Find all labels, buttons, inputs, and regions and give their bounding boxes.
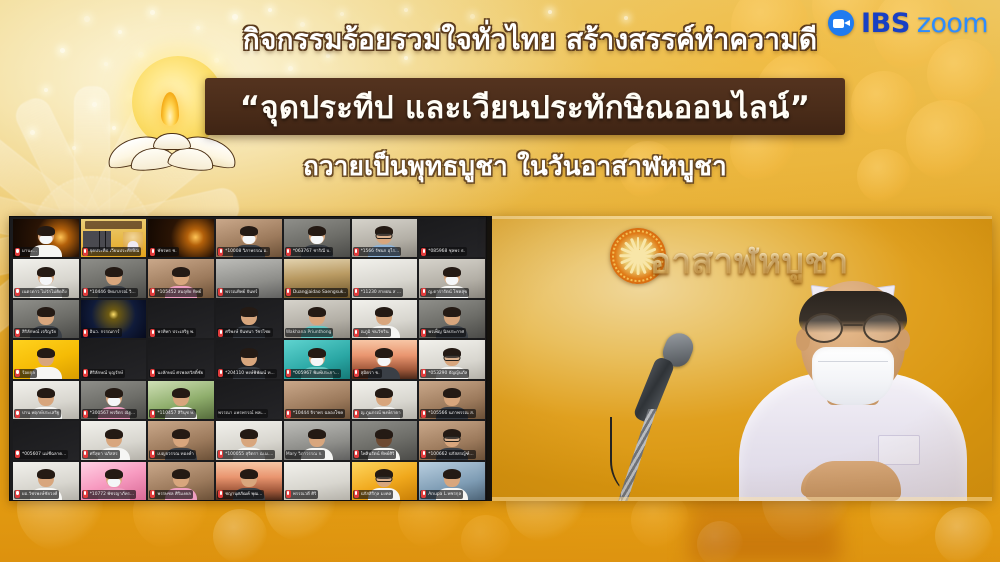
brand-zoom-label: zoom — [917, 8, 988, 39]
participant-tile[interactable]: พรรณทิพย์ จันทร์ — [216, 259, 282, 297]
participant-name-bar: พรทิพา ประเสริฐ พ. — [149, 328, 196, 337]
participant-name: ศรีสุดา ปภัสสร — [90, 450, 118, 459]
participant-name: *005967 พิมพ์ประภา... — [293, 369, 339, 378]
participant-name-bar: นงลักษณ์ ศรพลสวัสดิ์ชัย — [149, 369, 205, 378]
muted-microphone-icon — [421, 450, 426, 458]
participant-name-bar: ผอ.วัชรพงษ์ชัยวงศ์ — [14, 490, 59, 499]
participant-name-bar: *053290 ธัญญ์นภัส — [420, 369, 469, 378]
muted-microphone-icon — [286, 369, 291, 377]
muted-microphone-icon — [286, 288, 291, 296]
muted-microphone-icon — [218, 248, 223, 256]
participant-name: พรรณา แพรพรรณ์ พลเ... — [218, 409, 266, 418]
participant-name-bar: Anupa L.พชรกุล — [420, 490, 463, 499]
muted-microphone-icon — [15, 450, 20, 458]
muted-microphone-icon — [83, 288, 88, 296]
participant-name-bar: *10446 ปัทมาภรณ์ วิ... — [82, 288, 138, 297]
participant-name-bar: ศรีพงษ์ จันทนา วัชรไชย — [217, 328, 272, 337]
participant-name-bar: จุดประทีป เวียนประทักษิณ — [82, 247, 142, 256]
participant-name-bar: ณภูมิ ชนวัชริน — [353, 328, 391, 337]
participant-name: *005607 แม่ชีฉลาด... — [22, 450, 66, 459]
participant-name: *053290 ธัญญ์นภัส — [428, 369, 467, 378]
muted-microphone-icon — [218, 369, 223, 377]
participant-name: ร้อยกุล — [22, 369, 35, 378]
muted-microphone-icon — [354, 288, 359, 296]
ibs-zoom-logo: IBS zoom — [828, 6, 988, 40]
brand-ibs-label: IBS — [861, 8, 910, 39]
participant-tile[interactable]: สิริลักษณ์ เจริญวัย — [13, 300, 79, 338]
muted-microphone-icon — [286, 410, 291, 418]
participant-name: จุดประทีป เวียนประทักษิณ — [90, 247, 140, 256]
participant-tile[interactable]: ศรีสุดา ปภัสสร — [81, 421, 147, 459]
broadcast-stage: กิจกรรมร้อยรวมใจทั่วไทย สร้างสรรค์ทำความ… — [0, 0, 1000, 562]
participant-name-bar: *063767 ชาริณี บ. — [285, 247, 333, 256]
participant-tile[interactable]: *085968 ชุลพร ธ. — [419, 219, 485, 257]
participant-name: *300567 พรจิตร ณัฐ... — [90, 409, 135, 418]
participant-name: ชญานุศภัฒค์ พุฒ... — [225, 490, 262, 499]
muted-microphone-icon — [83, 490, 88, 498]
muted-microphone-icon — [83, 369, 88, 377]
participant-name-bar: ร้อยกุล — [14, 369, 37, 378]
participant-tile[interactable]: *100662 ปภัสสรญ์ฑ์... — [419, 421, 485, 459]
participant-tile[interactable]: *105452 สมฤทัย ทิพย์ — [148, 259, 214, 297]
participant-tile[interactable]: พรรณวดี ศิริ — [284, 462, 350, 500]
participant-tile[interactable]: จุดประทีป เวียนประทักษิณ — [81, 219, 147, 257]
participant-tile[interactable]: *10772 พัชรญาภัทร... — [81, 462, 147, 500]
participant-name-bar: ชญานุศภัฒค์ พุฒ... — [217, 490, 264, 499]
participant-name-bar: เนตรดาว ไม่รักไม่คิดถึง — [14, 288, 69, 297]
participant-tile[interactable]: ปภัสสิริกุล มงคล — [352, 462, 418, 500]
participant-tile[interactable]: *10008 วิภาพรรณ อ. — [216, 219, 282, 257]
participant-tile[interactable]: ญ.ภูมภรณ์ พงษ์ธาดา — [352, 381, 418, 419]
participant-name-bar: *1566 รัชนก อุไร... — [353, 247, 402, 256]
participant-tile[interactable]: *10444 จิราพร ฉลองโชค — [284, 381, 350, 419]
muted-microphone-icon — [354, 329, 359, 337]
muted-microphone-icon — [354, 369, 359, 377]
event-title-banner: “จุดประทีป และเวียนประทักษิณออนไลน์” — [205, 78, 845, 135]
muted-microphone-icon — [354, 490, 359, 498]
participant-name-bar: *100662 ปภัสสรญ์ฑ์... — [420, 450, 475, 459]
participant-name-bar: มานะ... — [14, 247, 39, 256]
participant-name: ญ.ภูมภรณ์ พงษ์ธาดา — [361, 409, 401, 418]
participant-tile[interactable]: ณภูมิ ชนวัชริน — [352, 300, 418, 338]
participant-name: Wakhana Priunthong — [286, 328, 332, 337]
muted-microphone-icon — [83, 248, 88, 256]
participant-name: ไพลินรัตน์ ทิพย์ศิริ — [361, 450, 395, 459]
participant-tile[interactable]: *11230 สายฝน ส ... — [352, 259, 418, 297]
participant-tile[interactable]: เบญจวรรณ ทองคำ — [148, 421, 214, 459]
participant-tile[interactable]: Mary วิภาวรรณ จ. — [284, 421, 350, 459]
participant-tile[interactable]: *005607 แม่ชีฉลาด... — [13, 421, 79, 459]
participant-name: ณภูมิ ชนวัชริน — [361, 328, 389, 337]
participant-name-bar: พรเพ็ญ นิลประกาศ — [420, 328, 466, 337]
participant-name: *105566 นภาพรรณ ส. — [428, 409, 474, 418]
participant-name-bar: *105452 สมฤทัย ทิพย์ — [149, 288, 203, 297]
muted-microphone-icon — [354, 248, 359, 256]
event-title-line-3: ถวายเป็นพุทธบูชา ในวันอาสาฬหบูชา — [0, 146, 1000, 187]
muted-microphone-icon — [421, 329, 426, 337]
participant-name-bar: พรรณวดี ศิริ — [285, 490, 319, 499]
participant-name-bar: ญ.ภูมภรณ์ พงษ์ธาดา — [353, 409, 403, 418]
participant-tile[interactable]: ร้อยกุล — [13, 340, 79, 378]
participant-tile[interactable]: พัชรพร ช. — [148, 219, 214, 257]
zoom-gallery-panel[interactable]: มานะ...จุดประทีป เวียนประทักษิณพัชรพร ช.… — [9, 216, 487, 501]
participant-tile[interactable]: *300567 พรจิตร ณัฐ... — [81, 381, 147, 419]
participant-name: *10008 วิภาพรรณ อ. — [225, 247, 268, 256]
participant-tile[interactable]: *100055 สุจิตรา ฌ.ม.... — [216, 421, 282, 459]
participant-name-bar: *005967 พิมพ์ประภา... — [285, 369, 341, 378]
participant-name-bar: พัชรพร ช. — [149, 247, 178, 256]
participant-name: Mary วิภาวรรณ จ. — [286, 450, 323, 459]
participant-name-bar: *300567 พรจิตร ณัฐ... — [82, 409, 137, 418]
participant-name-bar: *204110 พงษ์พิพัฒน์ ท... — [217, 369, 277, 378]
participant-name-bar: *085968 ชุลพร ธ. — [420, 247, 467, 256]
muted-microphone-icon — [354, 450, 359, 458]
participant-name: *105452 สมฤทัย ทิพย์ — [157, 288, 201, 297]
muted-microphone-icon — [15, 410, 20, 418]
participant-name-bar: ปภัสสิริกุล มงคล — [353, 490, 394, 499]
participant-tile[interactable]: เนตรดาว ไม่รักไม่คิดถึง — [13, 259, 79, 297]
participant-name-bar: ศิริลักษณ์ บุญรักษ์ — [82, 369, 125, 378]
participant-name: *100055 สุจิตรา ฌ.ม.... — [225, 450, 273, 459]
participant-name-bar: *10444 จิราพร ฉลองโชค — [285, 409, 345, 418]
participant-tile[interactable]: *105566 นภาพรรณ ส. — [419, 381, 485, 419]
participant-name: นงลักษณ์ ศรพลสวัสดิ์ชัย — [157, 369, 203, 378]
participant-name: พัชรพร ช. — [157, 247, 176, 256]
participant-name: ปาน พฤกษ์ประเสริฐ — [22, 409, 59, 418]
participant-name: *10446 ปัทมาภรณ์ วิ... — [90, 288, 136, 297]
participant-name: Anupa L.พชรกุล — [428, 490, 461, 499]
participant-tile[interactable]: สุมิตรา ข. — [352, 340, 418, 378]
participant-name-bar: เบญจวรรณ ทองคำ — [149, 450, 195, 459]
video-camera-icon — [828, 10, 854, 36]
participant-name: *11230 สายฝน ส ... — [361, 288, 402, 297]
participant-tile[interactable]: Anupa L.พชรกุล — [419, 462, 485, 500]
muted-microphone-icon — [218, 288, 223, 296]
participant-tile[interactable]: *1566 รัชนก อุไร... — [352, 219, 418, 257]
participant-tile[interactable]: พรรณา แพรพรรณ์ พลเ... — [216, 381, 282, 419]
participant-tile[interactable]: ชญานุศภัฒค์ พุฒ... — [216, 462, 282, 500]
participant-name-bar: *100055 สุจิตรา ฌ.ม.... — [217, 450, 275, 459]
participant-name-bar: อินว. กรรณการ์ — [82, 328, 122, 337]
participant-name: ผอ.วัชรพงษ์ชัยวงศ์ — [22, 490, 57, 499]
muted-microphone-icon — [150, 248, 155, 256]
participant-name: ญ.ดารารัตน์ โชคสุข — [428, 288, 467, 297]
participant-name: *063767 ชาริณี บ. — [293, 247, 331, 256]
participant-name: พรเพ็ญ นิลประกาศ — [428, 328, 464, 337]
participant-name: *10772 พัชรญาภัทร... — [90, 490, 134, 499]
participant-tile[interactable]: *063767 ชาริณี บ. — [284, 219, 350, 257]
participant-name-bar: *11230 สายฝน ส ... — [353, 288, 404, 297]
participant-name-bar: พรรษชล ศิริมงคล — [149, 490, 192, 499]
participant-tile[interactable]: ญ.ดารารัตน์ โชคสุข — [419, 259, 485, 297]
participant-tile[interactable]: ไพลินรัตน์ ทิพย์ศิริ — [352, 421, 418, 459]
participant-name: Duangjaidao Saengsuk... — [293, 288, 346, 297]
muted-microphone-icon — [15, 288, 20, 296]
muted-microphone-icon — [15, 369, 20, 377]
muted-microphone-icon — [150, 490, 155, 498]
participant-name: เนตรดาว ไม่รักไม่คิดถึง — [22, 288, 67, 297]
participant-name: ศิริลักษณ์ บุญรักษ์ — [90, 369, 123, 378]
participant-name-bar: *005607 แม่ชีฉลาด... — [14, 450, 68, 459]
participant-name-bar: ศรีสุดา ปภัสสร — [82, 450, 120, 459]
participant-name-bar: *110457 สิรินุช ษ. — [149, 409, 196, 418]
participant-name: สุมิตรา ข. — [361, 369, 380, 378]
participant-tile[interactable]: ศรีพงษ์ จันทนา วัชรไชย — [216, 300, 282, 338]
participant-name: สิริลักษณ์ เจริญวัย — [22, 328, 56, 337]
participant-tile[interactable]: *10446 ปัทมาภรณ์ วิ... — [81, 259, 147, 297]
participant-name: *110457 สิรินุช ษ. — [157, 409, 194, 418]
participant-name-bar: Mary วิภาวรรณ จ. — [285, 450, 325, 459]
event-title-line-2: “จุดประทีป และเวียนประทักษิณออนไลน์” — [240, 82, 811, 132]
muted-microphone-icon — [83, 450, 88, 458]
muted-microphone-icon — [150, 450, 155, 458]
muted-microphone-icon — [83, 329, 88, 337]
participant-tile[interactable]: *204110 พงษ์พิพัฒน์ ท... — [216, 340, 282, 378]
muted-microphone-icon — [218, 450, 223, 458]
participant-name: ศรีพงษ์ จันทนา วัชรไชย — [225, 328, 270, 337]
participant-tile[interactable]: *110457 สิรินุช ษ. — [148, 381, 214, 419]
participant-tile[interactable]: Duangjaidao Saengsuk... — [284, 259, 350, 297]
participant-name-bar: Duangjaidao Saengsuk... — [285, 288, 348, 297]
participant-name-bar: สิริลักษณ์ เจริญวัย — [14, 328, 58, 337]
participant-tile[interactable]: ผอ.วัชรพงษ์ชัยวงศ์ — [13, 462, 79, 500]
participant-tile[interactable]: พรทิพา ประเสริฐ พ. — [148, 300, 214, 338]
participant-grid: มานะ...จุดประทีป เวียนประทักษิณพัชรพร ช.… — [13, 219, 485, 500]
muted-microphone-icon — [150, 369, 155, 377]
participant-name-bar: ปาน พฤกษ์ประเสริฐ — [14, 409, 61, 418]
participant-tile[interactable]: *005967 พิมพ์ประภา... — [284, 340, 350, 378]
participant-name-bar: พรรณา แพรพรรณ์ พลเ... — [217, 409, 268, 418]
participant-name: *204110 พงษ์พิพัฒน์ ท... — [225, 369, 275, 378]
participant-name: เบญจวรรณ ทองคำ — [157, 450, 193, 459]
participant-name: ปภัสสิริกุล มงคล — [361, 490, 392, 499]
participant-name-bar: สุมิตรา ข. — [353, 369, 382, 378]
muted-microphone-icon — [286, 248, 291, 256]
muted-microphone-icon — [150, 329, 155, 337]
participant-name: พรทิพา ประเสริฐ พ. — [157, 328, 194, 337]
participant-name-bar: *10772 พัชรญาภัทร... — [82, 490, 136, 499]
participant-name-bar: Wakhana Priunthong — [285, 328, 334, 337]
participant-tile[interactable]: พรรษชล ศิริมงคล — [148, 462, 214, 500]
muted-microphone-icon — [421, 248, 426, 256]
participant-name: พรรณวดี ศิริ — [293, 490, 317, 499]
participant-name: พรรณทิพย์ จันทร์ — [225, 288, 257, 297]
participant-tile[interactable]: Wakhana Priunthong — [284, 300, 350, 338]
participant-name: *1566 รัชนก อุไร... — [361, 247, 400, 256]
participant-name: *100662 ปภัสสรญ์ฑ์... — [428, 450, 473, 459]
muted-microphone-icon — [218, 490, 223, 498]
participant-tile[interactable]: มานะ... — [13, 219, 79, 257]
participant-name: *085968 ชุลพร ธ. — [428, 247, 465, 256]
muted-microphone-icon — [421, 288, 426, 296]
participant-tile[interactable]: นงลักษณ์ ศรพลสวัสดิ์ชัย — [148, 340, 214, 378]
participant-name: มานะ... — [22, 247, 37, 256]
participant-tile[interactable]: พรเพ็ญ นิลประกาศ — [419, 300, 485, 338]
muted-microphone-icon — [15, 329, 20, 337]
participant-name-bar: *10008 วิภาพรรณ อ. — [217, 247, 270, 256]
participant-name: อินว. กรรณการ์ — [90, 328, 120, 337]
muted-microphone-icon — [421, 369, 426, 377]
participant-name-bar: ญ.ดารารัตน์ โชคสุข — [420, 288, 469, 297]
participant-tile[interactable]: ศิริลักษณ์ บุญรักษ์ — [81, 340, 147, 378]
participant-name-bar: *105566 นภาพรรณ ส. — [420, 409, 476, 418]
participant-name: *10444 จิราพร ฉลองโชค — [293, 409, 343, 418]
muted-microphone-icon — [83, 410, 88, 418]
participant-tile[interactable]: *053290 ธัญญ์นภัส — [419, 340, 485, 378]
speaker-video-panel[interactable]: อาสาฬหบูชา — [492, 216, 992, 501]
muted-microphone-icon — [218, 329, 223, 337]
muted-microphone-icon — [15, 248, 20, 256]
muted-microphone-icon — [150, 410, 155, 418]
muted-microphone-icon — [421, 490, 426, 498]
participant-name: พรรษชล ศิริมงคล — [157, 490, 190, 499]
muted-microphone-icon — [354, 410, 359, 418]
participant-tile[interactable]: อินว. กรรณการ์ — [81, 300, 147, 338]
panel-bottom-edge — [492, 497, 992, 501]
muted-microphone-icon — [15, 490, 20, 498]
muted-microphone-icon — [150, 288, 155, 296]
participant-name-bar: พรรณทิพย์ จันทร์ — [217, 288, 259, 297]
muted-microphone-icon — [421, 410, 426, 418]
muted-microphone-icon — [286, 490, 291, 498]
participant-name-bar: ไพลินรัตน์ ทิพย์ศิริ — [353, 450, 397, 459]
participant-tile[interactable]: ปาน พฤกษ์ประเสริฐ — [13, 381, 79, 419]
